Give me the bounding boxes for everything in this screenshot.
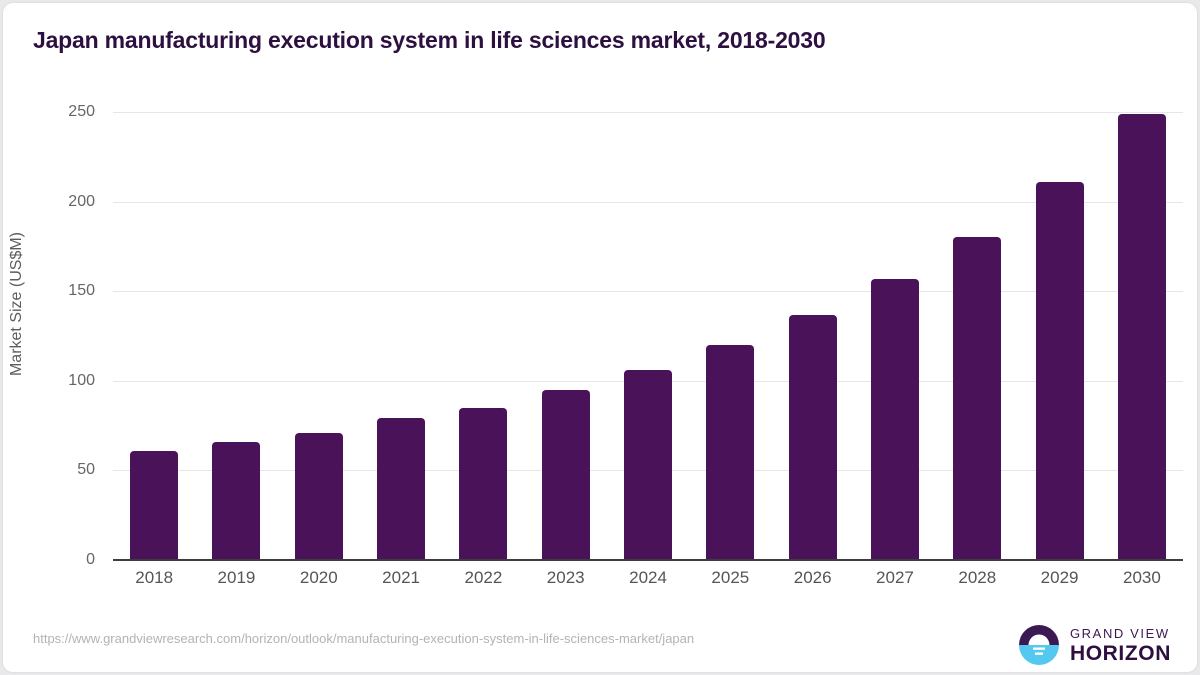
bar[interactable] bbox=[130, 451, 178, 560]
x-tick-label: 2029 bbox=[1018, 568, 1100, 588]
bar-slot bbox=[525, 112, 607, 560]
bar-slot bbox=[195, 112, 277, 560]
x-tick-label: 2026 bbox=[772, 568, 854, 588]
bar-slot bbox=[113, 112, 195, 560]
bar-slot bbox=[1018, 112, 1100, 560]
bar[interactable] bbox=[789, 315, 837, 561]
y-tick-label: 150 bbox=[25, 282, 95, 300]
bar-slot bbox=[689, 112, 771, 560]
bar[interactable] bbox=[295, 433, 343, 560]
x-axis-line bbox=[113, 559, 1183, 561]
y-tick-label: 0 bbox=[25, 551, 95, 569]
y-tick-label: 200 bbox=[25, 193, 95, 211]
bar-slot bbox=[607, 112, 689, 560]
x-axis-labels: 2018201920202021202220232024202520262027… bbox=[113, 568, 1183, 588]
x-tick-label: 2027 bbox=[854, 568, 936, 588]
x-tick-label: 2023 bbox=[525, 568, 607, 588]
x-tick-label: 2019 bbox=[195, 568, 277, 588]
bar[interactable] bbox=[377, 418, 425, 560]
bar[interactable] bbox=[953, 237, 1001, 560]
bar-slot bbox=[360, 112, 442, 560]
bar-slot bbox=[772, 112, 854, 560]
bar[interactable] bbox=[1036, 182, 1084, 560]
x-tick-label: 2024 bbox=[607, 568, 689, 588]
y-tick-label: 50 bbox=[25, 461, 95, 479]
x-tick-label: 2022 bbox=[442, 568, 524, 588]
chart-card: Japan manufacturing execution system in … bbox=[3, 3, 1197, 672]
bar-slot bbox=[936, 112, 1018, 560]
bar[interactable] bbox=[871, 279, 919, 560]
bar[interactable] bbox=[542, 390, 590, 560]
brand-logo-line1: GRAND VIEW bbox=[1070, 627, 1171, 640]
brand-logo-text: GRAND VIEW HORIZON bbox=[1070, 627, 1171, 664]
bar[interactable] bbox=[624, 370, 672, 560]
x-tick-label: 2018 bbox=[113, 568, 195, 588]
x-tick-label: 2028 bbox=[936, 568, 1018, 588]
plot-area bbox=[113, 112, 1183, 560]
bar-slot bbox=[442, 112, 524, 560]
bar[interactable] bbox=[212, 442, 260, 560]
brand-logo-line2: HORIZON bbox=[1070, 643, 1171, 664]
x-tick-label: 2021 bbox=[360, 568, 442, 588]
bar-slot bbox=[278, 112, 360, 560]
y-tick-label: 250 bbox=[25, 103, 95, 121]
y-axis-ticks: 050100150200250 bbox=[23, 112, 95, 560]
x-tick-label: 2030 bbox=[1101, 568, 1183, 588]
y-tick-label: 100 bbox=[25, 372, 95, 390]
horizon-sun-circle-icon bbox=[1017, 623, 1061, 667]
x-tick-label: 2020 bbox=[278, 568, 360, 588]
bar[interactable] bbox=[706, 345, 754, 560]
source-url[interactable]: https://www.grandviewresearch.com/horizo… bbox=[33, 631, 694, 646]
bar-series bbox=[113, 112, 1183, 560]
brand-logo[interactable]: GRAND VIEW HORIZON bbox=[1017, 623, 1171, 667]
bar-slot bbox=[854, 112, 936, 560]
bar[interactable] bbox=[459, 408, 507, 560]
bar[interactable] bbox=[1118, 114, 1166, 560]
x-tick-label: 2025 bbox=[689, 568, 771, 588]
page-title: Japan manufacturing execution system in … bbox=[33, 27, 825, 54]
bar-slot bbox=[1101, 112, 1183, 560]
chart-screenshot: Japan manufacturing execution system in … bbox=[0, 0, 1200, 675]
